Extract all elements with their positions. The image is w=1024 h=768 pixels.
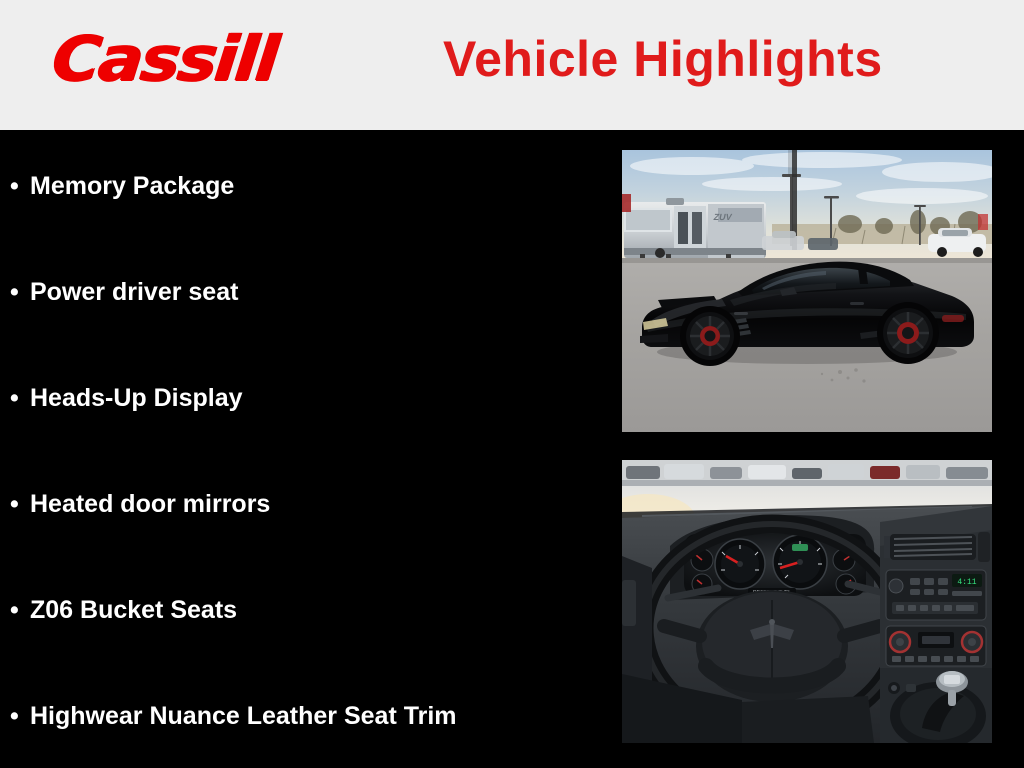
vehicle-exterior-photo: ZUV	[622, 150, 992, 432]
list-item: • Heads-Up Display	[10, 384, 243, 413]
highlights-list: • Memory Package • Power driver seat • H…	[0, 130, 620, 768]
list-item-label: Power driver seat	[30, 278, 238, 307]
list-item: • Highwear Nuance Leather Seat Trim	[10, 702, 457, 731]
list-item: • Z06 Bucket Seats	[10, 596, 237, 625]
list-item: • Memory Package	[10, 172, 234, 201]
vehicle-interior-photo: RESERVE FUEL	[622, 460, 992, 743]
list-item-label: Heated door mirrors	[30, 490, 270, 519]
svg-text:ZUV: ZUV	[713, 212, 733, 222]
bullet-icon: •	[10, 280, 30, 305]
bullet-icon: •	[10, 492, 30, 517]
list-item: • Power driver seat	[10, 278, 238, 307]
bullet-icon: •	[10, 174, 30, 199]
list-item: • Heated door mirrors	[10, 490, 270, 519]
bullet-icon: •	[10, 598, 30, 623]
list-item-label: Z06 Bucket Seats	[30, 596, 237, 625]
slide-root: Cassill Vehicle Highlights • Memory Pack…	[0, 0, 1024, 768]
bullet-icon: •	[10, 704, 30, 729]
list-item-label: Highwear Nuance Leather Seat Trim	[30, 702, 457, 731]
page-title: Vehicle Highlights	[443, 30, 883, 88]
list-item-label: Memory Package	[30, 172, 234, 201]
cassill-logo: Cassill	[48, 22, 279, 95]
list-item-label: Heads-Up Display	[30, 384, 243, 413]
slide-header: Cassill Vehicle Highlights	[0, 0, 1024, 130]
svg-text:4:11: 4:11	[957, 578, 976, 587]
bullet-icon: •	[10, 386, 30, 411]
